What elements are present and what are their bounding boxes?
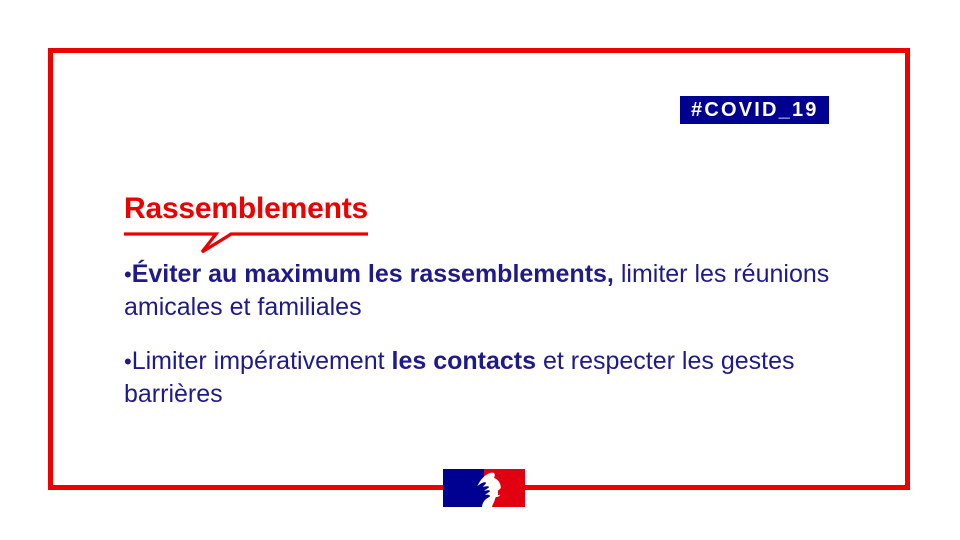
list-item: •Éviter au maximum les rassemblements, l… bbox=[124, 258, 864, 323]
bullet-1-bold-text: Éviter au maximum les rassemblements, bbox=[132, 260, 614, 288]
marianne-flag-icon bbox=[443, 469, 525, 507]
bullet-dot-icon: • bbox=[124, 262, 132, 287]
title-underline-speech-tail-icon bbox=[124, 230, 368, 254]
bullet-dot-icon: • bbox=[124, 349, 132, 374]
covid-hashtag-badge: #COVID_19 bbox=[680, 96, 829, 124]
covid-info-poster: #COVID_19 Rassemblements •Éviter au maxi… bbox=[0, 0, 960, 540]
page-title: Rassemblements bbox=[124, 192, 544, 226]
guidance-bullet-list: •Éviter au maximum les rassemblements, l… bbox=[124, 258, 864, 410]
title-block: Rassemblements bbox=[124, 192, 544, 226]
marianne-logo bbox=[443, 469, 525, 507]
bullet-2-bold-text: les contacts bbox=[392, 347, 537, 375]
list-item: •Limiter impérativement les contacts et … bbox=[124, 345, 864, 410]
bullet-2-lead-text: Limiter impérativement bbox=[132, 347, 392, 375]
